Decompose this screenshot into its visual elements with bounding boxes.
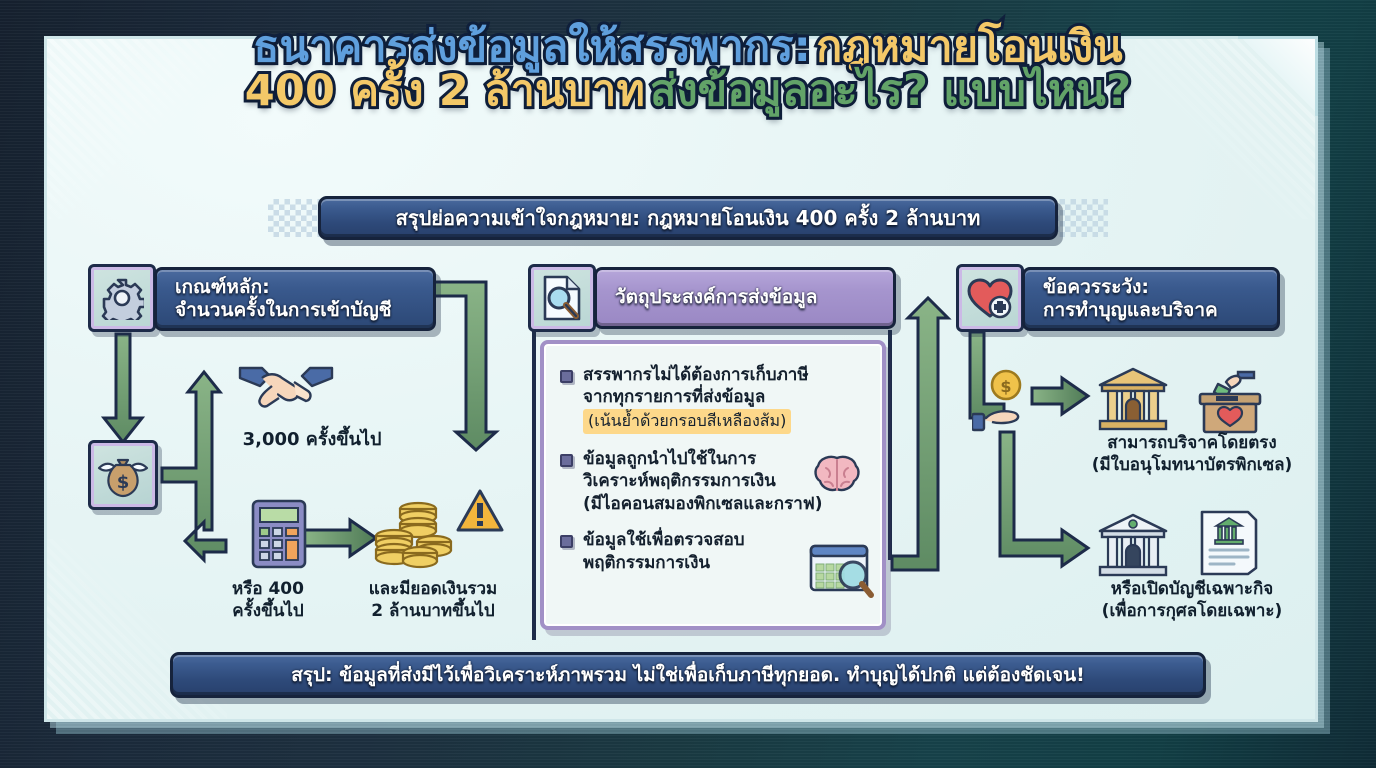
panel-header-right-label: ข้อควรระวัง: การทำบุญและบริจาค — [1022, 267, 1280, 331]
monitor-magnifier-icon — [808, 542, 874, 604]
panel-header-center-text: วัตถุประสงค์การส่งข้อมูล — [615, 286, 817, 309]
page-title: ธนาคารส่งข้อมูลให้สรรพากร: กฎหมายโอนเงิน… — [0, 26, 1376, 114]
certificate-document-icon — [1196, 508, 1262, 582]
title-line-2: 400 ครั้ง 2 ล้านบาท ส่งข้อมูลอะไร? แบบไห… — [0, 70, 1376, 114]
handshake-icon — [238, 356, 334, 422]
panel-header-left-text: เกณฑ์หลัก: จำนวนครั้งในการเข้าบัญชี — [175, 276, 392, 322]
caption-3000-times: 3,000 ครั้งขึ้นไป — [212, 428, 412, 451]
panel-header-right-text: ข้อควรระวัง: การทำบุญและบริจาค — [1043, 276, 1218, 322]
title-line-1: ธนาคารส่งข้อมูลให้สรรพากร: กฎหมายโอนเงิน — [0, 26, 1376, 70]
panel-header-left[interactable]: เกณฑ์หลัก: จำนวนครั้งในการเข้าบัญชี — [88, 264, 436, 332]
svg-text:$: $ — [1000, 377, 1011, 396]
caption-special-account: หรือเปิดบัญชีเฉพาะกิจ (เพื่อการกุศลโดยเฉ… — [1056, 578, 1328, 622]
donation-box-icon — [1196, 370, 1268, 440]
summary-ribbon: สรุป: ข้อมูลที่ส่งมีไว้เพื่อวิเคราะห์ภาพ… — [170, 652, 1206, 698]
caption-total-amount: และมียอดเงินรวม 2 ล้านบาทขึ้นไป — [338, 578, 528, 622]
hand-with-coin-icon: $ — [972, 368, 1038, 444]
title-line1-part1: ธนาคารส่งข้อมูลให้สรรพากร: — [253, 22, 811, 72]
winged-money-bag-icon: $ — [88, 440, 158, 510]
bank-icon — [1096, 512, 1170, 584]
title-line2-part2: ส่งข้อมูลอะไร? แบบไหน? — [650, 66, 1131, 116]
bullet-highlight-1: (เน้นย้ำด้วยกรอบสีเหลืองส้ม) — [583, 409, 791, 434]
caption-400-times: หรือ 400 ครั้งขึ้นไป — [188, 578, 348, 622]
heart-plus-icon — [956, 264, 1024, 332]
warning-triangle-icon — [455, 488, 505, 538]
title-line1-part2: กฎหมายโอนเงิน — [816, 22, 1123, 72]
bullet-body: สรรพากรไม่ได้ต้องการเก็บภาษี จากทุกรายกา… — [583, 364, 809, 434]
subtitle-ribbon: สรุปย่อความเข้าใจกฎหมาย: กฎหมายโอนเงิน 4… — [318, 196, 1058, 240]
bullet-dot-icon — [560, 535, 573, 548]
checker-accent-right — [1054, 199, 1108, 237]
checker-accent-left — [268, 199, 322, 237]
subtitle-text: สรุปย่อความเข้าใจกฎหมาย: กฎหมายโอนเงิน 4… — [396, 206, 981, 230]
caption-direct-donation: สามารถบริจาคโดยตรง (มีใบอนุโมทนาบัตรพิกเ… — [1056, 432, 1328, 476]
bullet-text-3: ข้อมูลใช้เพื่อตรวจสอบ พฤติกรรมการเงิน — [583, 529, 745, 574]
infographic-canvas: ธนาคารส่งข้อมูลให้สรรพากร: กฎหมายโอนเงิน… — [0, 0, 1376, 768]
bullet-text-2: ข้อมูลถูกนำไปใช้ในการ วิเคราะห์พฤติกรรมก… — [583, 448, 823, 515]
panel-header-right[interactable]: ข้อควรระวัง: การทำบุญและบริจาค — [956, 264, 1280, 332]
panel-header-left-label: เกณฑ์หลัก: จำนวนครั้งในการเข้าบัญชี — [154, 267, 436, 331]
bullet-dot-icon — [560, 454, 573, 467]
panel-header-center[interactable]: วัตถุประสงค์การส่งข้อมูล — [528, 264, 896, 332]
gear-icon — [88, 264, 156, 332]
title-line2-part1: 400 ครั้ง 2 ล้านบาท — [245, 66, 645, 116]
calculator-icon — [250, 498, 308, 574]
panel-header-center-label: วัตถุประสงค์การส่งข้อมูล — [594, 267, 896, 329]
bullet-dot-icon — [560, 370, 573, 383]
svg-text:$: $ — [117, 472, 130, 493]
bullet-item: สรรพากรไม่ได้ต้องการเก็บภาษี จากทุกรายกา… — [560, 364, 866, 434]
bullet-text-1: สรรพากรไม่ได้ต้องการเก็บภาษี จากทุกรายกา… — [583, 364, 809, 409]
brain-icon — [806, 452, 868, 506]
bank-icon — [1096, 366, 1170, 438]
summary-text: สรุป: ข้อมูลที่ส่งมีไว้เพื่อวิเคราะห์ภาพ… — [291, 664, 1085, 687]
document-magnifier-icon — [528, 264, 596, 332]
coin-stacks-icon — [372, 498, 458, 574]
